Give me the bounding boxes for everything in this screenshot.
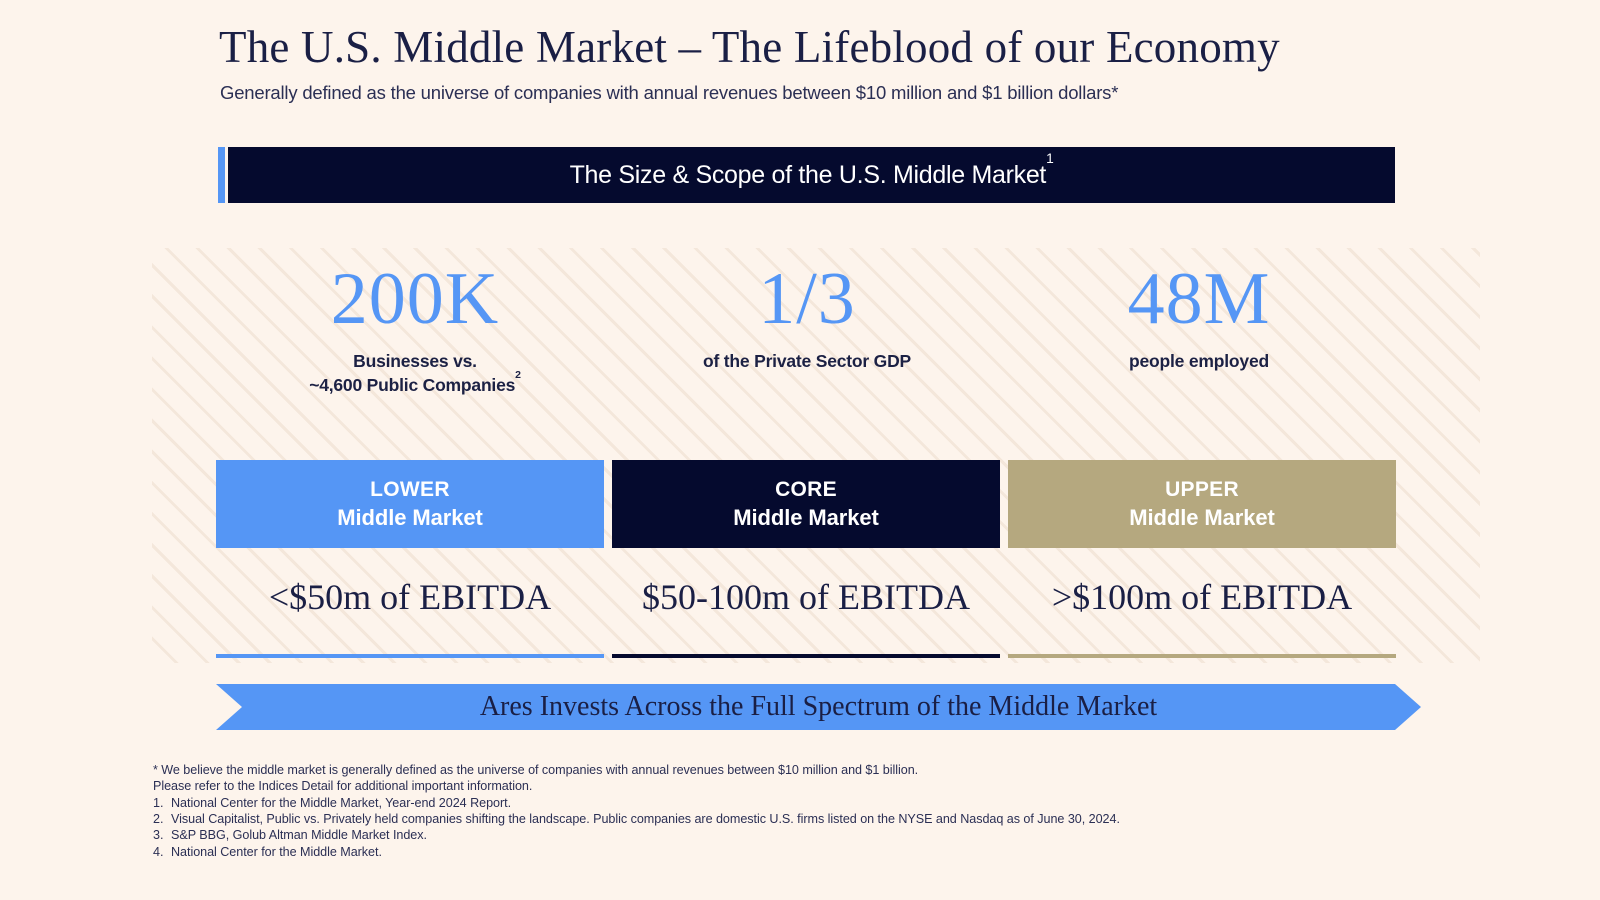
header-bar-label: The Size & Scope of the U.S. Middle Mark…	[570, 161, 1054, 190]
header-bar-accent	[218, 147, 225, 203]
ebitda-underline	[612, 654, 1000, 658]
footnote-item: 2.Visual Capitalist, Public vs. Privatel…	[153, 811, 1503, 827]
double-arrow-shape: Ares Invests Across the Full Spectrum of…	[216, 684, 1421, 730]
footnote-item: 3.S&P BBG, Golub Altman Middle Market In…	[153, 827, 1503, 843]
slide-canvas: The U.S. Middle Market – The Lifeblood o…	[0, 0, 1600, 900]
stat-label-line1: of the Private Sector GDP	[703, 351, 911, 371]
segment-sub-label: Middle Market	[337, 503, 482, 532]
footnote-item: 4.National Center for the Middle Market.	[153, 844, 1503, 860]
stat-label: Businesses vs. ~4,600 Public Companies2	[219, 350, 611, 397]
stat-label: people employed	[1003, 350, 1395, 374]
stat-block: 48M people employed	[1003, 262, 1395, 402]
footnotes-block: * We believe the middle market is genera…	[153, 762, 1503, 860]
header-bar-footnote-marker: 1	[1046, 151, 1053, 166]
arrow-banner-text: Ares Invests Across the Full Spectrum of…	[480, 691, 1157, 723]
ebitda-value: $50-100m of EBITDA	[642, 576, 970, 618]
footnote-number: 2.	[153, 811, 171, 827]
ebitda-value: <$50m of EBITDA	[269, 576, 551, 618]
segment-tier-label: LOWER	[370, 476, 450, 504]
segment-tier-label: CORE	[775, 476, 837, 504]
ebitda-cell-lower: <$50m of EBITDA	[216, 576, 604, 658]
spectrum-arrow-banner: Ares Invests Across the Full Spectrum of…	[216, 684, 1421, 730]
footnote-text: National Center for the Middle Market.	[171, 845, 382, 859]
stat-label-line1: Businesses vs.	[353, 351, 477, 371]
segment-boxes-row: LOWER Middle Market CORE Middle Market U…	[216, 460, 1396, 548]
stat-value: 48M	[1003, 262, 1395, 336]
footnote-number: 3.	[153, 827, 171, 843]
header-bar: The Size & Scope of the U.S. Middle Mark…	[228, 147, 1395, 203]
segment-sub-label: Middle Market	[733, 503, 878, 532]
stat-block: 200K Businesses vs. ~4,600 Public Compan…	[219, 262, 611, 402]
ebitda-underline	[1008, 654, 1396, 658]
footnote-asterisk-line2: Please refer to the Indices Detail for a…	[153, 778, 1503, 794]
footnote-number: 1.	[153, 795, 171, 811]
page-title: The U.S. Middle Market – The Lifeblood o…	[219, 22, 1280, 74]
stat-value: 200K	[219, 262, 611, 336]
segment-box-upper[interactable]: UPPER Middle Market	[1008, 460, 1396, 548]
stat-label: of the Private Sector GDP	[611, 350, 1003, 374]
footnote-asterisk-line1: * We believe the middle market is genera…	[153, 762, 1503, 778]
stat-label-line2-wrap: ~4,600 Public Companies2	[219, 374, 611, 398]
stats-row: 200K Businesses vs. ~4,600 Public Compan…	[219, 262, 1395, 402]
stat-label-line1: people employed	[1129, 351, 1269, 371]
ebitda-cell-upper: >$100m of EBITDA	[1008, 576, 1396, 658]
footnote-number: 4.	[153, 844, 171, 860]
stat-label-footnote-marker: 2	[515, 369, 521, 381]
stat-value: 1/3	[611, 262, 1003, 336]
segment-box-core[interactable]: CORE Middle Market	[612, 460, 1000, 548]
ebitda-row: <$50m of EBITDA $50-100m of EBITDA >$100…	[216, 576, 1396, 658]
footnote-text: Visual Capitalist, Public vs. Privately …	[171, 812, 1120, 826]
ebitda-cell-core: $50-100m of EBITDA	[612, 576, 1000, 658]
segment-tier-label: UPPER	[1165, 476, 1239, 504]
ebitda-underline	[216, 654, 604, 658]
segment-sub-label: Middle Market	[1129, 503, 1274, 532]
segment-box-lower[interactable]: LOWER Middle Market	[216, 460, 604, 548]
ebitda-value: >$100m of EBITDA	[1052, 576, 1352, 618]
footnote-item: 1.National Center for the Middle Market,…	[153, 795, 1503, 811]
footnote-text: S&P BBG, Golub Altman Middle Market Inde…	[171, 828, 427, 842]
stat-block: 1/3 of the Private Sector GDP	[611, 262, 1003, 402]
footnote-text: National Center for the Middle Market, Y…	[171, 796, 511, 810]
stat-label-line2: ~4,600 Public Companies	[309, 375, 515, 395]
page-subtitle: Generally defined as the universe of com…	[220, 82, 1118, 104]
header-bar-text: The Size & Scope of the U.S. Middle Mark…	[570, 161, 1047, 189]
